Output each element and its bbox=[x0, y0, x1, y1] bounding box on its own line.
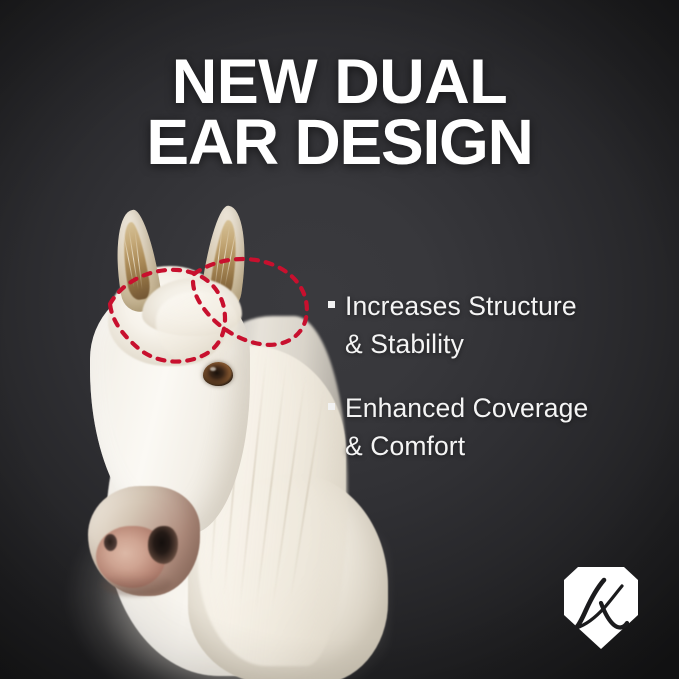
square-bullet-icon bbox=[328, 403, 335, 410]
feature-text: Increases Structure & Stability bbox=[345, 287, 577, 363]
headline-line-1: NEW DUAL bbox=[0, 52, 679, 112]
feature-line-1: Increases Structure bbox=[345, 287, 577, 325]
brand-logo bbox=[560, 563, 642, 653]
feature-text: Enhanced Coverage & Comfort bbox=[345, 389, 588, 465]
feature-line-1: Enhanced Coverage bbox=[345, 389, 588, 427]
feature-line-2: & Stability bbox=[345, 325, 577, 363]
shield-icon bbox=[560, 563, 642, 653]
page-title: NEW DUAL EAR DESIGN bbox=[0, 52, 679, 172]
list-item: Increases Structure & Stability bbox=[328, 287, 648, 363]
list-item: Enhanced Coverage & Comfort bbox=[328, 389, 648, 465]
feature-list: Increases Structure & Stability Enhanced… bbox=[328, 287, 648, 491]
feature-line-2: & Comfort bbox=[345, 427, 588, 465]
square-bullet-icon bbox=[328, 301, 335, 308]
promo-banner: NEW DUAL EAR DESIGN Increases Structure … bbox=[0, 0, 679, 679]
headline-line-2: EAR DESIGN bbox=[0, 112, 679, 172]
